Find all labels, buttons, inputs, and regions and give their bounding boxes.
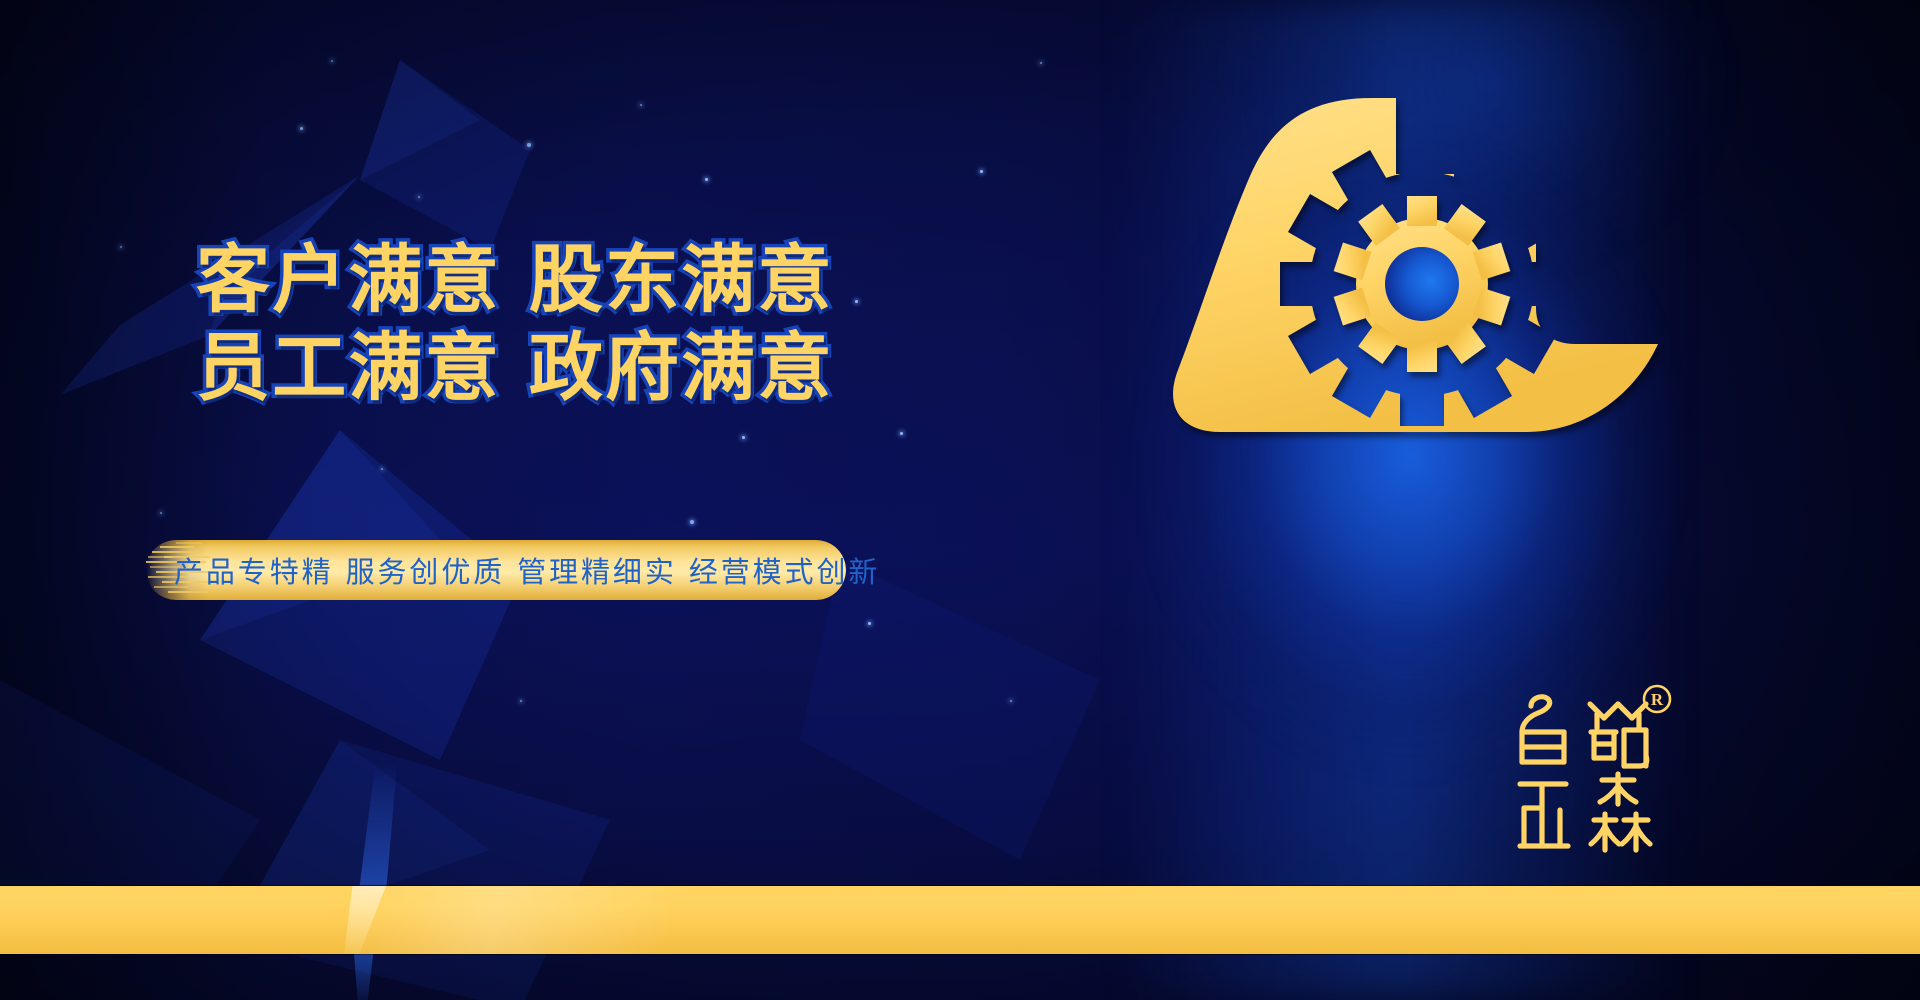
company-wordmark: R [1490, 680, 1680, 870]
headline-block: 客户满意 股东满意 员工满意 政府满意 [196, 238, 916, 412]
poster-canvas: 客户满意 股东满意 员工满意 政府满意 产品专特精 服务创优质 管理精细实 经营… [0, 0, 1920, 1000]
wordmark-char-zhu [1590, 704, 1647, 766]
wordmark-char-zheng [1520, 784, 1568, 846]
bottom-gold-bar [0, 886, 1920, 954]
slogan-pill: 产品专特精 服务创优质 管理精细实 经营模式创新 [146, 540, 846, 600]
slogan-pill-text: 产品专特精 服务创优质 管理精细实 经营模式创新 [146, 540, 846, 600]
headline-line-2: 员工满意 政府满意 [196, 326, 916, 412]
wordmark-char-sen [1591, 774, 1650, 850]
registered-trademark-icon: R [1644, 686, 1670, 712]
headline-line-1: 客户满意 股东满意 [196, 238, 916, 324]
logo-inner-gear [1334, 196, 1511, 372]
gear-swoosh-logo-icon [1136, 92, 1696, 442]
gold-bar-sheen [350, 886, 670, 954]
svg-text:R: R [1651, 690, 1664, 709]
wordmark-char-tai [1522, 697, 1564, 762]
logo-hub-circle [1385, 247, 1459, 321]
